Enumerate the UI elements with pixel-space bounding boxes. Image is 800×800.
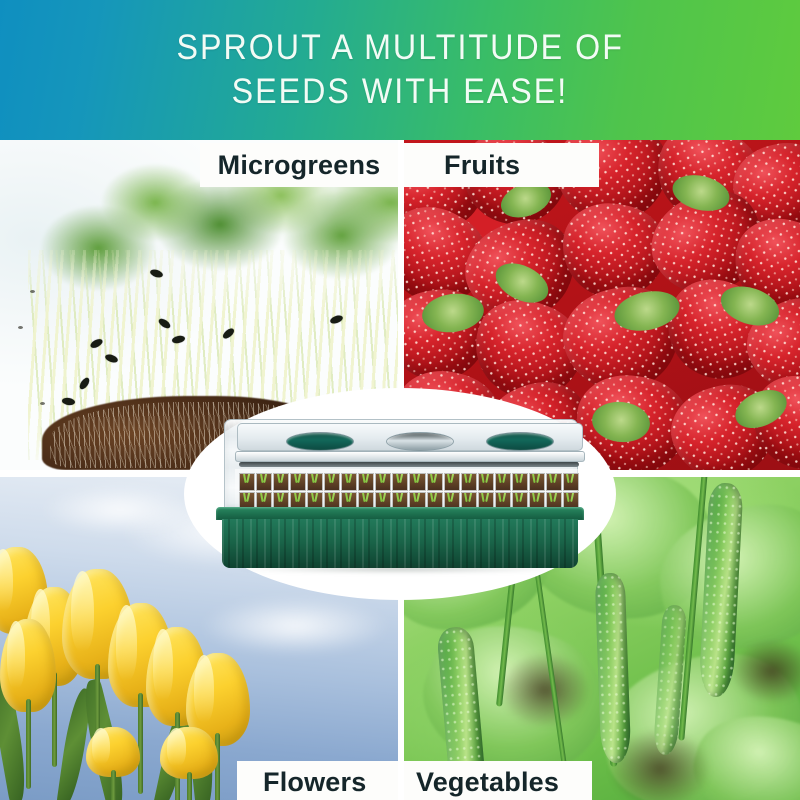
- seed-cell: [512, 473, 528, 491]
- seed-cell: [290, 473, 306, 491]
- label-flowers: Flowers: [237, 761, 398, 800]
- label-microgreens: Microgreens: [200, 143, 398, 187]
- tulip: [160, 727, 218, 800]
- seedling-cell-grid: [239, 473, 579, 510]
- debris-fleck: [18, 326, 23, 329]
- cloud: [200, 597, 390, 655]
- dome-top-rail: [237, 423, 583, 451]
- seed-cell: [341, 473, 357, 491]
- debris-fleck: [30, 290, 35, 293]
- seed-cell: [307, 473, 323, 491]
- promo-image: SPROUT A MULTITUDE OF SEEDS WITH EASE!: [0, 0, 800, 800]
- seed-cell: [478, 473, 494, 491]
- label-fruits: Fruits: [404, 143, 599, 187]
- seed-cell: [495, 473, 511, 491]
- tray-base: [222, 519, 578, 568]
- header-banner: SPROUT A MULTITUDE OF SEEDS WITH EASE!: [0, 0, 800, 140]
- seed-cell: [427, 473, 443, 491]
- seed-starter-tray: [216, 419, 584, 571]
- banner-headline-line1: SPROUT A MULTITUDE OF: [176, 26, 623, 70]
- label-vegetables-text: Vegetables: [416, 767, 559, 798]
- seed-cell: [444, 473, 460, 491]
- seed-cell: [461, 473, 477, 491]
- tulip-bloom: [0, 619, 56, 712]
- dome-edge-line: [239, 462, 579, 467]
- humidity-dome: [224, 419, 578, 511]
- tulip-stem: [26, 699, 31, 789]
- label-microgreens-text: Microgreens: [218, 150, 381, 181]
- seed-cell: [546, 473, 562, 491]
- banner-headline-line2: SEEDS WITH EASE!: [232, 70, 569, 114]
- tulip: [0, 619, 56, 779]
- tray-shadow: [238, 565, 562, 573]
- shadow-blob: [500, 653, 590, 727]
- vent-icon[interactable]: [486, 432, 554, 451]
- seed-cell: [273, 473, 289, 491]
- seed-cell: [256, 473, 272, 491]
- cloud: [40, 485, 200, 535]
- seed-cell: [324, 473, 340, 491]
- seed-cell: [239, 473, 255, 491]
- vent-icon[interactable]: [286, 432, 354, 451]
- seed-cell: [409, 473, 425, 491]
- tulip-stem: [187, 772, 192, 800]
- tulip: [86, 727, 140, 800]
- dome-seam: [235, 451, 585, 462]
- vent-icon[interactable]: [386, 432, 454, 451]
- seed-cell: [563, 473, 579, 491]
- seed-cell: [392, 473, 408, 491]
- label-vegetables: Vegetables: [404, 761, 592, 800]
- seed-cell: [529, 473, 545, 491]
- seed-cell: [375, 473, 391, 491]
- label-fruits-text: Fruits: [444, 150, 520, 181]
- debris-fleck: [40, 402, 45, 405]
- label-flowers-text: Flowers: [263, 767, 366, 798]
- seed-cell: [358, 473, 374, 491]
- tulip-stem: [111, 770, 116, 800]
